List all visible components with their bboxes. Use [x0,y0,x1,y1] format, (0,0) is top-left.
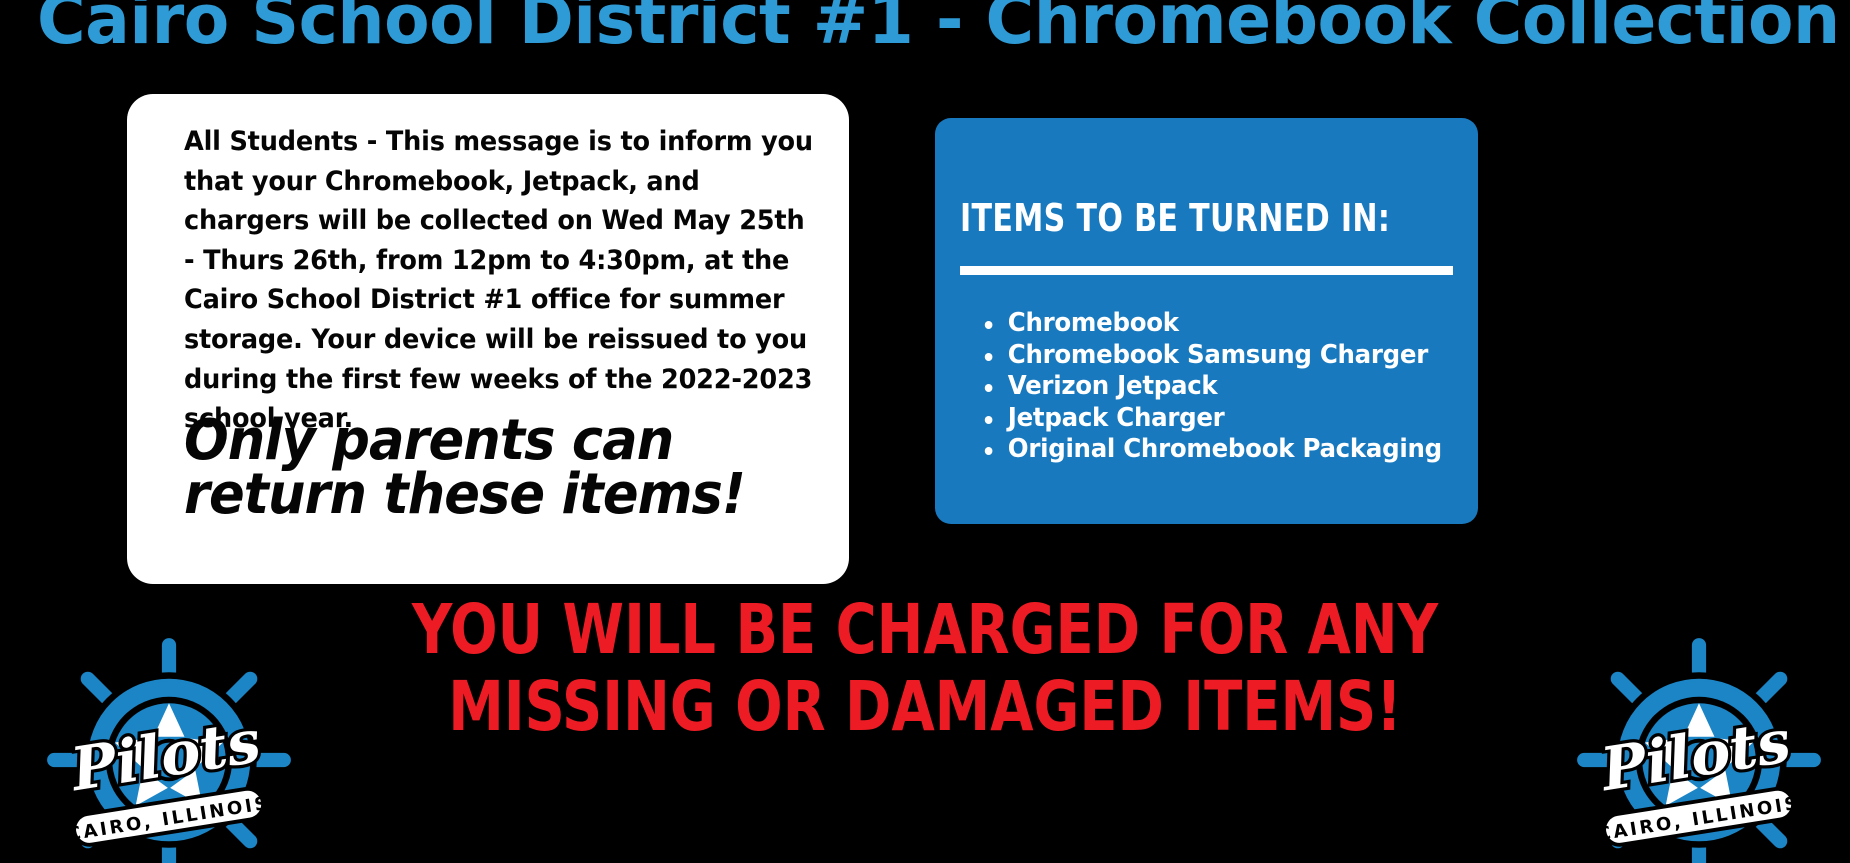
warning-line-2: MISSING OR DAMAGED ITEMS! [93,669,1758,746]
message-callout-text: Only parents can return these items! [184,414,804,522]
ships-wheel-icon: Pilots CAIRO, ILLINOIS [1570,631,1828,863]
pilots-logo-left: Pilots CAIRO, ILLINOIS [40,631,298,863]
ships-wheel-icon: Pilots CAIRO, ILLINOIS [40,631,298,863]
list-item: Verizon Jetpack [979,371,1449,403]
page-title: Cairo School District #1 - Chromebook Co… [37,0,1813,56]
list-item: Chromebook [979,308,1449,340]
items-list: Chromebook Chromebook Samsung Charger Ve… [979,308,1469,466]
poster-canvas: Cairo School District #1 - Chromebook Co… [0,0,1850,863]
items-card: ITEMS TO BE TURNED IN: Chromebook Chrome… [935,118,1478,524]
items-card-divider [960,266,1453,275]
items-card-heading: ITEMS TO BE TURNED IN: [960,196,1390,240]
pilots-logo-right: Pilots CAIRO, ILLINOIS [1570,631,1828,863]
warning-text: YOU WILL BE CHARGED FOR ANY MISSING OR D… [93,592,1758,746]
list-item: Jetpack Charger [979,403,1449,435]
message-card: All Students - This message is to inform… [127,94,849,584]
message-body-text: All Students - This message is to inform… [184,122,821,439]
list-item: Original Chromebook Packaging [979,434,1449,466]
list-item: Chromebook Samsung Charger [979,340,1449,372]
warning-line-1: YOU WILL BE CHARGED FOR ANY [93,592,1758,669]
